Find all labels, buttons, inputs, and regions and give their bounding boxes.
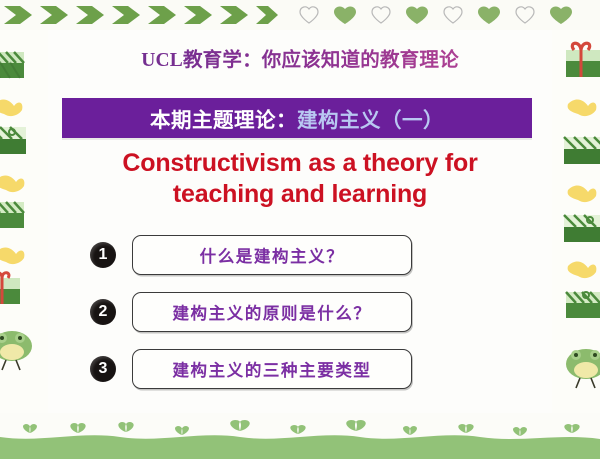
list-item-number-badge: 1 xyxy=(90,242,116,268)
topic-banner-prefix: 本期主题理论： xyxy=(150,108,297,132)
slide-content: UCL教育学：你应该知道的教育理论 本期主题理论：建构主义（一） Constru… xyxy=(48,26,552,418)
list-item[interactable]: 2 建构主义的原则是什么？ xyxy=(48,291,552,333)
gift-box-icon xyxy=(0,127,26,154)
list-item-label: 什么是建构主义？ xyxy=(200,243,345,267)
gift-box-icon xyxy=(0,52,24,78)
topic-banner-text: 本期主题理论：建构主义（一） xyxy=(150,103,444,133)
right-border-decoration xyxy=(552,26,600,416)
english-title-line2: teaching and learning xyxy=(48,179,552,210)
list-item-box[interactable]: 建构主义的原则是什么？ xyxy=(132,292,412,332)
gift-box-icon xyxy=(564,137,600,164)
english-title: Constructivism as a theory for teaching … xyxy=(48,148,552,209)
gift-box-icon xyxy=(564,215,600,242)
english-title-line1: Constructivism as a theory for xyxy=(48,148,552,179)
list-item[interactable]: 3 建构主义的三种主要类型 xyxy=(48,348,552,390)
bottom-border-decoration xyxy=(0,413,600,459)
left-border-decoration xyxy=(0,26,48,416)
topic-banner-topic: 建构主义（一） xyxy=(297,108,444,132)
agenda-list: 1 什么是建构主义？ 2 建构主义的原则是什么？ 3 建构主义的三种主要类型 xyxy=(48,234,552,405)
list-item-box[interactable]: 建构主义的三种主要类型 xyxy=(132,349,412,389)
page-title: UCL教育学：你应该知道的教育理论 xyxy=(48,43,552,72)
list-item-box[interactable]: 什么是建构主义？ xyxy=(132,235,412,275)
list-item-label: 建构主义的三种主要类型 xyxy=(172,357,371,381)
list-item-number-badge: 2 xyxy=(90,299,116,325)
slide-canvas: UCL教育学：你应该知道的教育理论 本期主题理论：建构主义（一） Constru… xyxy=(0,0,600,459)
gift-box-icon xyxy=(0,202,24,228)
gift-box-icon xyxy=(566,292,600,318)
list-item[interactable]: 1 什么是建构主义？ xyxy=(48,234,552,276)
list-item-number-badge: 3 xyxy=(90,356,116,382)
topic-banner: 本期主题理论：建构主义（一） xyxy=(62,98,532,138)
list-item-label: 建构主义的原则是什么？ xyxy=(172,300,371,324)
